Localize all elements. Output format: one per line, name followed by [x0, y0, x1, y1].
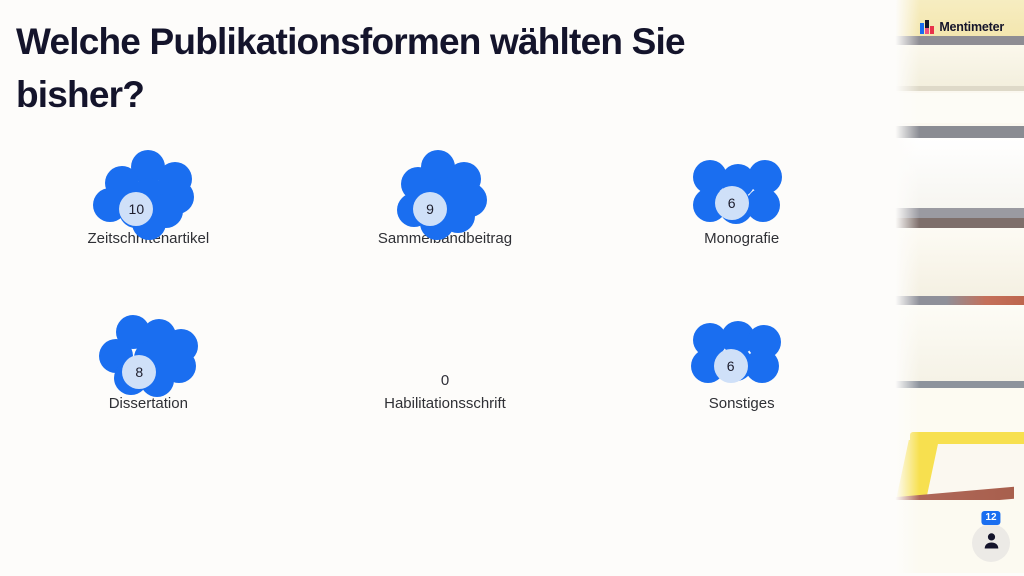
result-label: Sonstiges: [709, 395, 775, 412]
mentimeter-logo: Mentimeter: [920, 20, 1004, 34]
count-badge: 6: [715, 186, 749, 220]
dot-cluster: 6: [682, 315, 802, 393]
results-grid: 10 Zeitschriftenartikel 9 Sammelbandbeit…: [0, 150, 890, 480]
participant-count-badge: 12: [981, 511, 1000, 525]
page-title: Welche Publikationsformen wählten Sie bi…: [16, 16, 816, 121]
book-stack-background-image: [890, 0, 1024, 576]
result-label: Monografie: [704, 230, 779, 247]
result-item-habilitationsschrift: 0 Habilitationsschrift: [297, 315, 594, 480]
result-item-sammelbandbeitrag: 9 Sammelbandbeitrag: [297, 150, 594, 315]
count-value: 0: [441, 315, 449, 393]
result-label: Dissertation: [109, 395, 188, 412]
result-item-dissertation: 8 Dissertation: [0, 315, 297, 480]
dot-cluster: 6: [682, 150, 802, 228]
person-icon: [983, 532, 1000, 554]
dot-cluster: 9: [385, 150, 505, 228]
result-item-sonstiges: 6 Sonstiges: [593, 315, 890, 480]
participant-counter[interactable]: 12: [972, 524, 1010, 562]
result-item-zeitschriftenartikel: 10 Zeitschriftenartikel: [0, 150, 297, 315]
bar-chart-icon: [920, 20, 934, 34]
result-item-monografie: 6 Monografie: [593, 150, 890, 315]
result-label: Habilitationsschrift: [384, 395, 506, 412]
dot-cluster: 10: [88, 150, 208, 228]
dot-cluster: 8: [88, 315, 208, 393]
count-badge: 9: [413, 192, 447, 226]
count-badge: 6: [714, 349, 748, 383]
brand-name: Mentimeter: [939, 20, 1004, 34]
